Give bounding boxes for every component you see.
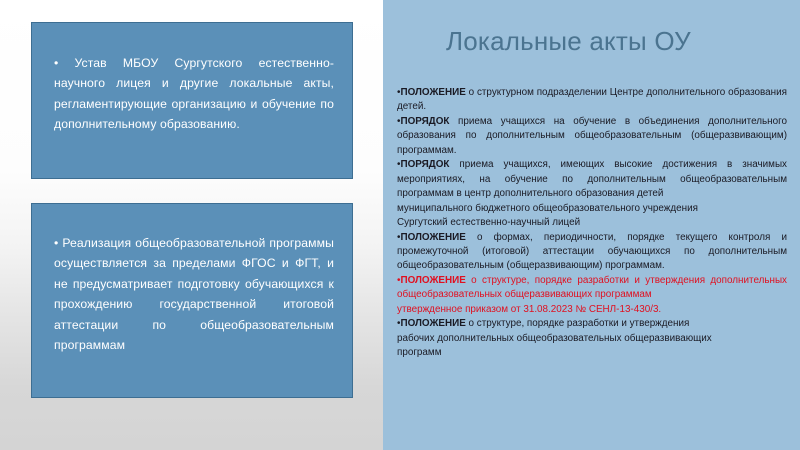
list-item-lead: ПОРЯДОК <box>400 116 449 127</box>
callout-box-ustav-body: Устав МБОУ Сургутского естественно-научн… <box>54 56 334 131</box>
list-item-rest: приема учащихся на обучение в объединени… <box>397 116 787 156</box>
list-item-tail-line: муниципального бюджетного общеобразовате… <box>397 202 787 216</box>
list-item-tail-line: рабочих дополнительных общеобразовательн… <box>397 332 787 346</box>
list-item-rest: приема учащихся, имеющих высокие достиже… <box>397 159 787 199</box>
list-item: •ПОРЯДОК приема учащихся на обучение в о… <box>397 115 787 158</box>
callout-box-ustav: • Устав МБОУ Сургутского естественно-нау… <box>31 22 353 179</box>
list-item-tail-line: программ <box>397 346 787 360</box>
list-item-tail-line: утвержденное приказом от 31.08.2023 № СЕ… <box>397 303 787 317</box>
callout-box-realizaciya-body: Реализация общеобразовательной программы… <box>54 236 334 352</box>
bullet-marker: • <box>54 236 58 250</box>
list-item-tail-line: Сургутский естественно-научный лицей <box>397 216 787 230</box>
list-item: •ПОЛОЖЕНИЕ о структуре, порядке разработ… <box>397 317 787 360</box>
callout-box-realizaciya: • Реализация общеобразовательной програм… <box>31 203 353 398</box>
callout-box-ustav-text: • Устав МБОУ Сургутского естественно-нау… <box>54 53 334 135</box>
bullet-marker: • <box>54 56 58 70</box>
list-item-rest: о структуре, порядке разработки и утверж… <box>466 318 690 329</box>
callout-box-realizaciya-text: • Реализация общеобразовательной програм… <box>54 233 334 355</box>
right-content-pane: Локальные акты ОУ •ПОЛОЖЕНИЕ о структурн… <box>383 0 800 450</box>
list-item-lead: ПОЛОЖЕНИЕ <box>400 87 465 98</box>
list-item: •ПОЛОЖЕНИЕ о структурном подразделении Ц… <box>397 86 787 115</box>
list-item: •ПОЛОЖЕНИЕ о формах, периодичности, поря… <box>397 231 787 274</box>
list-item: •ПОРЯДОК приема учащихся, имеющих высоки… <box>397 158 787 230</box>
list-item-lead: ПОЛОЖЕНИЕ <box>400 275 465 286</box>
list-item-highlighted: •ПОЛОЖЕНИЕ о структуре, порядке разработ… <box>397 274 787 317</box>
list-item-lead: ПОРЯДОК <box>400 159 449 170</box>
left-content-pane: • Устав МБОУ Сургутского естественно-нау… <box>0 0 383 450</box>
slide-canvas: • Устав МБОУ Сургутского естественно-нау… <box>0 0 800 450</box>
page-title: Локальные акты ОУ <box>446 25 786 57</box>
list-item-lead: ПОЛОЖЕНИЕ <box>400 318 465 329</box>
local-acts-list: •ПОЛОЖЕНИЕ о структурном подразделении Ц… <box>397 86 787 361</box>
list-item-lead: ПОЛОЖЕНИЕ <box>400 232 465 243</box>
